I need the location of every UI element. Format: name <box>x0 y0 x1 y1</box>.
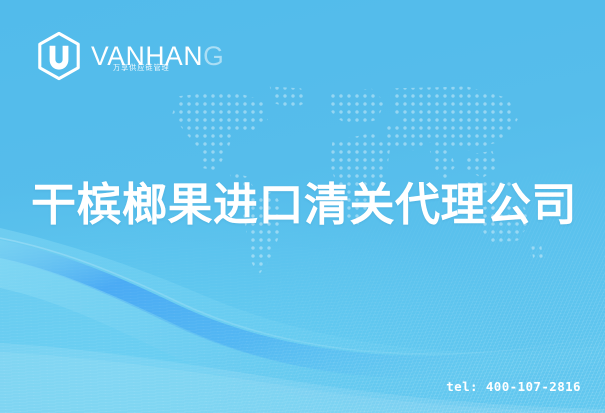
contact-phone[interactable]: tel: 400-107-2816 <box>446 379 581 394</box>
page-title: 干槟榔果进口清关代理公司 <box>31 182 583 229</box>
promo-banner: VANHANG 万享供应链管理 干槟榔果进口清关代理公司 tel: 400-10… <box>0 0 605 413</box>
brand-subtitle: 万享供应链管理 <box>113 64 170 71</box>
brand-logo[interactable]: VANHANG 万享供应链管理 <box>36 31 224 81</box>
brand-wordmark: VANHANG 万享供应链管理 <box>91 43 224 70</box>
vanhang-hexagon-u-mark <box>36 31 82 81</box>
brand-wordmark-tail: G <box>203 41 224 71</box>
